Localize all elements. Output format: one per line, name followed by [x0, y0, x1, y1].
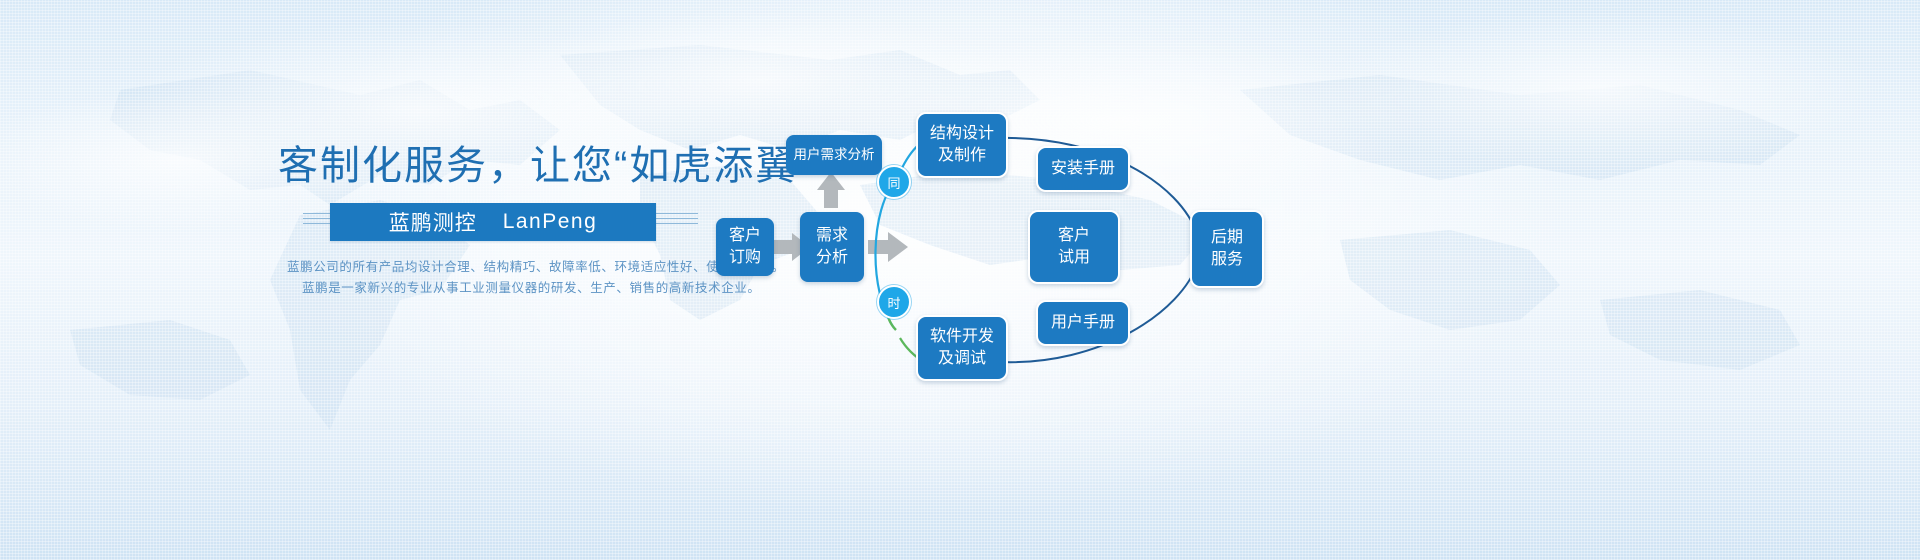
brand-name-cn: 蓝鹏测控 — [389, 207, 477, 237]
node-user-requirement-analysis[interactable]: 用户需求分析 — [786, 135, 882, 175]
node-label: 后期 — [1211, 227, 1243, 249]
subtitle-line-2: 蓝鹏是一家新兴的专业从事工业测量仪器的研发、生产、销售的高新技术企业。 — [302, 277, 761, 296]
node-user-manual[interactable]: 用户手册 — [1036, 300, 1130, 346]
node-customer-order[interactable]: 客户 订购 — [716, 218, 774, 276]
banner-text-block: 客制化服务，让您“如虎添翼” 蓝鹏测控 LanPeng 蓝鹏公司的所有产品均设计… — [0, 0, 760, 560]
node-label: 安装手册 — [1051, 158, 1115, 180]
node-label: 服务 — [1211, 249, 1243, 271]
brand-rule-left — [303, 213, 333, 226]
badge-label: 时 — [887, 293, 900, 312]
node-structure-design[interactable]: 结构设计 及制作 — [916, 112, 1008, 178]
brand-bar: 蓝鹏测控 LanPeng — [330, 203, 656, 241]
process-flow-diagram: 用户需求分析 客户 订购 需求 分析 结构设计 及制作 软件开发 及调试 — [700, 90, 1920, 430]
node-label: 试用 — [1058, 247, 1090, 269]
node-label: 及调试 — [930, 348, 994, 370]
node-customer-trial[interactable]: 客户 试用 — [1028, 210, 1120, 284]
node-label: 用户手册 — [1051, 312, 1115, 334]
flow-connectors — [700, 90, 1920, 430]
node-label: 订购 — [729, 247, 761, 269]
node-label: 结构设计 — [930, 123, 994, 145]
brand-name-en: LanPeng — [503, 210, 598, 234]
node-label: 及制作 — [930, 145, 994, 167]
node-label: 客户 — [729, 225, 761, 247]
node-label: 用户需求分析 — [794, 144, 875, 166]
node-installation-manual[interactable]: 安装手册 — [1036, 146, 1130, 192]
node-requirement-analysis[interactable]: 需求 分析 — [800, 212, 864, 282]
badge-simultaneous-tong: 同 — [877, 165, 911, 199]
node-label: 客户 — [1058, 225, 1090, 247]
node-label: 分析 — [816, 247, 848, 269]
node-label: 需求 — [816, 225, 848, 247]
badge-simultaneous-shi: 时 — [877, 285, 911, 319]
banner-stage: 客制化服务，让您“如虎添翼” 蓝鹏测控 LanPeng 蓝鹏公司的所有产品均设计… — [0, 0, 1920, 560]
node-after-sales-service[interactable]: 后期 服务 — [1190, 210, 1264, 288]
node-label: 软件开发 — [930, 326, 994, 348]
node-software-development[interactable]: 软件开发 及调试 — [916, 315, 1008, 381]
brand-rule-right — [656, 213, 698, 226]
badge-label: 同 — [887, 173, 900, 192]
